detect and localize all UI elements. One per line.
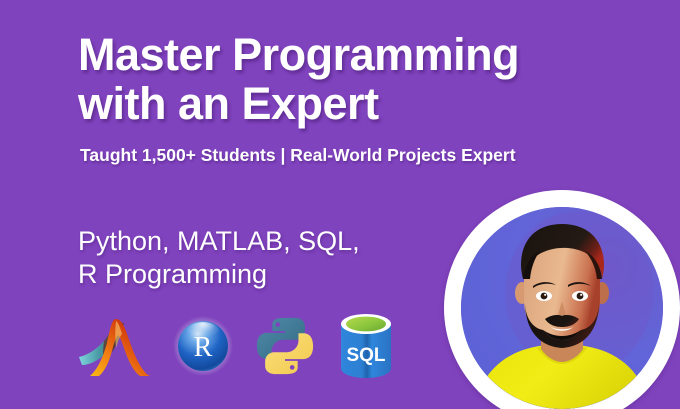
portrait-photo (461, 207, 663, 409)
subtitle: Taught 1,500+ Students | Real-World Proj… (80, 145, 516, 166)
svg-text:SQL: SQL (346, 345, 385, 366)
svg-text:R: R (194, 332, 213, 363)
python-logo (254, 315, 316, 377)
headline-line-1: Master Programming (78, 29, 519, 80)
headline-line-2: with an Expert (78, 79, 598, 128)
skills-list: Python, MATLAB, SQL, R Programming (78, 225, 360, 291)
skills-line-1: Python, MATLAB, SQL, (78, 226, 360, 256)
skills-line-2: R Programming (78, 258, 360, 291)
technology-logo-row: R (78, 306, 408, 386)
portrait-illustration (461, 207, 663, 409)
r-logo: R (172, 315, 234, 377)
matlab-logo (78, 313, 152, 379)
sql-logo: SQL (336, 311, 396, 381)
page-title: Master Programming with an Expert (78, 30, 598, 128)
promo-banner: Master Programming with an Expert Taught… (0, 0, 680, 409)
instructor-portrait (444, 190, 680, 409)
